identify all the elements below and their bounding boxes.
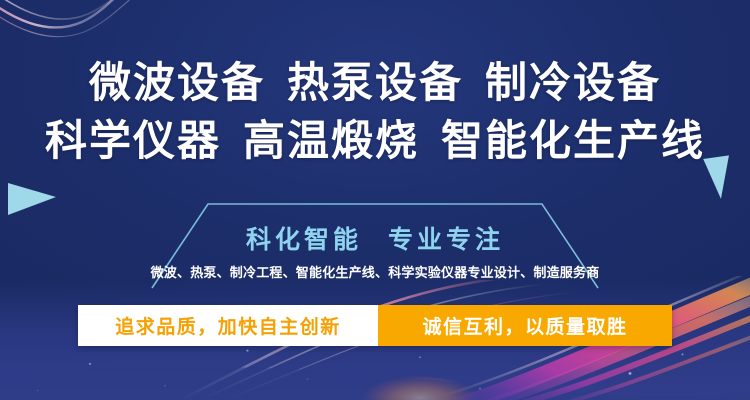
middle-tagline: 科化智能专业专注 — [150, 220, 600, 256]
slogan-bar-group: 追求品质，加快自主创新 诚信互利，以质量取胜 — [78, 305, 672, 346]
slogan-bar-quality: 追求品质，加快自主创新 — [78, 305, 378, 346]
slogan-bar-integrity: 诚信互利，以质量取胜 — [378, 305, 672, 346]
middle-tagline-block: 科化智能专业专注 微波、热泵、制冷工程、智能化生产线、科学实验仪器专业设计、制造… — [150, 198, 600, 290]
middle-tagline-right: 专业专注 — [388, 226, 504, 254]
light-streak-top-left-icon — [0, 0, 200, 56]
middle-tagline-left: 科化智能 — [246, 226, 362, 254]
promotional-banner: 微波设备热泵设备制冷设备 科学仪器高温煅烧智能化生产线 科化智能专业专注 微波、… — [0, 0, 750, 400]
middle-subtitle: 微波、热泵、制冷工程、智能化生产线、科学实验仪器专业设计、制造服务商 — [150, 262, 600, 281]
triangle-left-decoration-icon — [8, 183, 56, 215]
